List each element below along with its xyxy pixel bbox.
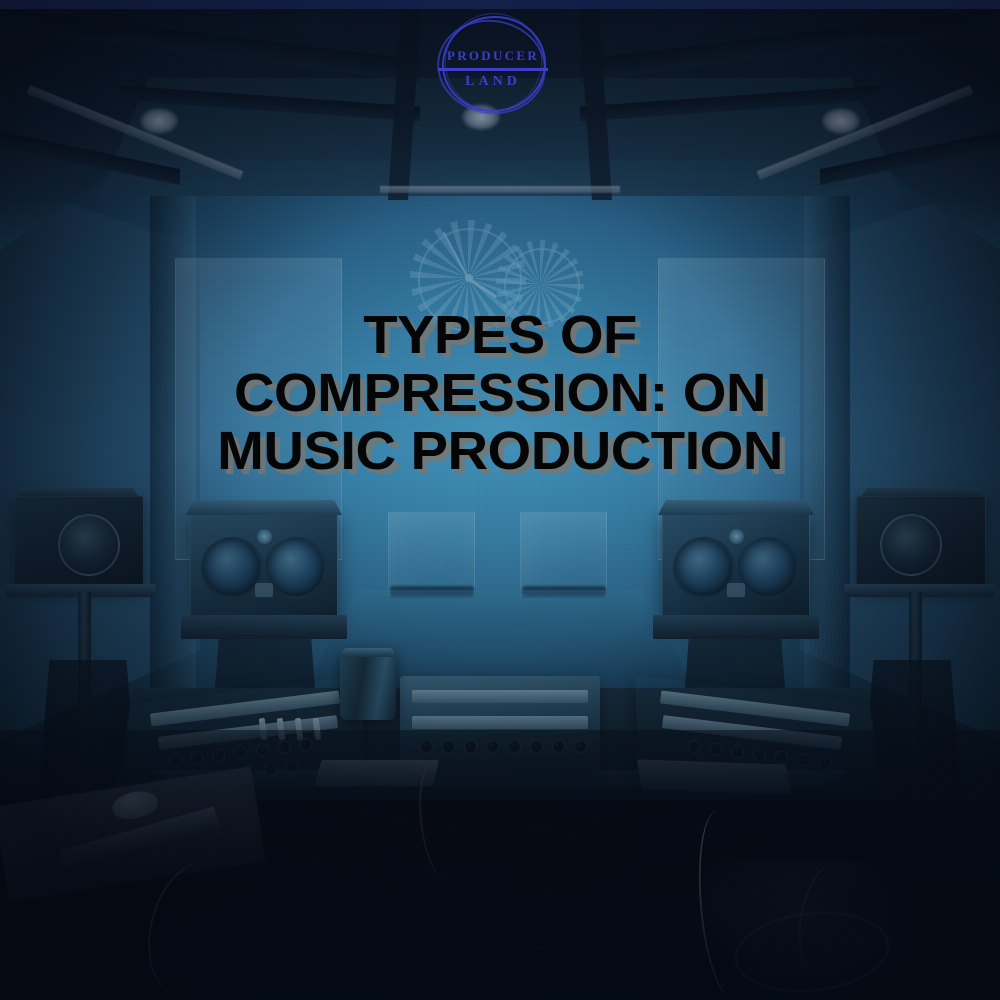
monitor-woofer-icon <box>673 537 735 599</box>
clock-center-pin-icon <box>465 274 473 282</box>
logo-word-producer: PRODUCER <box>432 48 554 64</box>
monitor-top-face <box>186 500 342 515</box>
monitor-woofer-icon <box>737 537 799 599</box>
top-edge-band <box>0 0 1000 9</box>
logo-word-land: LAND <box>432 74 554 90</box>
studio-monitor-right <box>662 512 810 618</box>
headline-line-1: TYPES OF <box>0 306 1000 364</box>
acoustic-panel-left <box>388 512 475 596</box>
monitor-base <box>181 615 347 639</box>
poster-headline: TYPES OF COMPRESSION: ON MUSIC PRODUCTIO… <box>0 306 1000 480</box>
headline-line-2: COMPRESSION: ON <box>0 364 1000 422</box>
monitor-base <box>653 615 819 639</box>
monitor-badge <box>255 583 273 597</box>
recessed-ceiling-light <box>140 108 178 134</box>
monitor-tweeter-icon <box>257 529 272 544</box>
speaker-woofer-icon <box>880 514 942 576</box>
speaker-woofer-icon <box>58 514 120 576</box>
console-strip <box>412 690 588 703</box>
studio-monitor-left <box>190 512 338 618</box>
producer-land-logo[interactable]: PRODUCER LAND <box>432 10 554 114</box>
poster-canvas: PRODUCER LAND TYPES OF COMPRESSION: ON M… <box>0 0 1000 1000</box>
recessed-ceiling-light <box>822 108 860 134</box>
monitor-top-face <box>658 500 814 515</box>
monitor-woofer-icon <box>265 537 327 599</box>
studio-room-photo <box>0 0 1000 1000</box>
ceiling-light-strip <box>380 186 620 193</box>
monitor-tweeter-icon <box>729 529 744 544</box>
water-bottle <box>340 648 396 720</box>
monitor-badge <box>727 583 745 597</box>
acoustic-panel-right <box>520 512 607 596</box>
headline-line-3: MUSIC PRODUCTION <box>0 422 1000 480</box>
logo-divider-rule <box>438 68 548 71</box>
console-strip <box>412 716 588 729</box>
monitor-woofer-icon <box>201 537 263 599</box>
